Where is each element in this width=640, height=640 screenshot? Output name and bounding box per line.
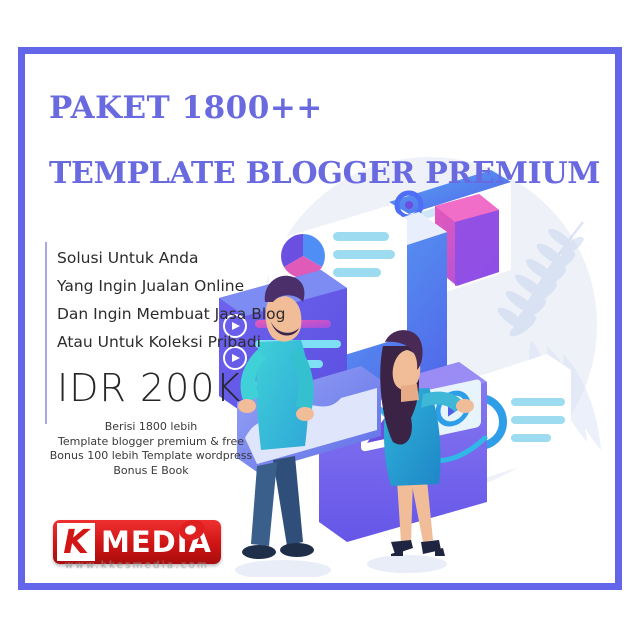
poster-frame: PAKET 1800++ TEMPLATE BLOGGER PREMIUM So… (18, 47, 622, 590)
benefits-list: Solusi Untuk Anda Yang Ingin Jualan Onli… (57, 244, 285, 356)
kmedia-logo: K MEDIA www.kkesmedia.com (43, 508, 233, 577)
fineprint-block: Berisi 1800 lebih Template blogger premi… (31, 420, 271, 478)
promo-poster: PAKET 1800++ TEMPLATE BLOGGER PREMIUM So… (0, 0, 640, 640)
fineprint-item: Template blogger premium & free (31, 435, 271, 450)
logo-plate: K MEDIA (53, 520, 221, 564)
poster-headline: PAKET 1800++ (49, 90, 323, 126)
benefit-item: Atau Untuk Koleksi Pribadi (57, 328, 285, 356)
poster-frame-inner: PAKET 1800++ TEMPLATE BLOGGER PREMIUM So… (31, 60, 609, 577)
fineprint-item: Bonus E Book (31, 464, 271, 479)
logo-k-mark: K (57, 523, 95, 561)
fineprint-item: Bonus 100 lebih Template wordpress (31, 449, 271, 464)
fineprint-item: Berisi 1800 lebih (31, 420, 271, 435)
illustration-team-dashboards (211, 150, 609, 577)
logo-website-url: www.kkesmedia.com (53, 560, 221, 571)
benefit-item: Yang Ingin Jualan Online (57, 272, 285, 300)
price-label: IDR 200K (57, 366, 241, 410)
accent-rule (45, 242, 47, 424)
benefit-item: Dan Ingin Membuat Jasa Blog (57, 300, 285, 328)
poster-subheadline: TEMPLATE BLOGGER PREMIUM (49, 156, 600, 191)
benefit-item: Solusi Untuk Anda (57, 244, 285, 272)
